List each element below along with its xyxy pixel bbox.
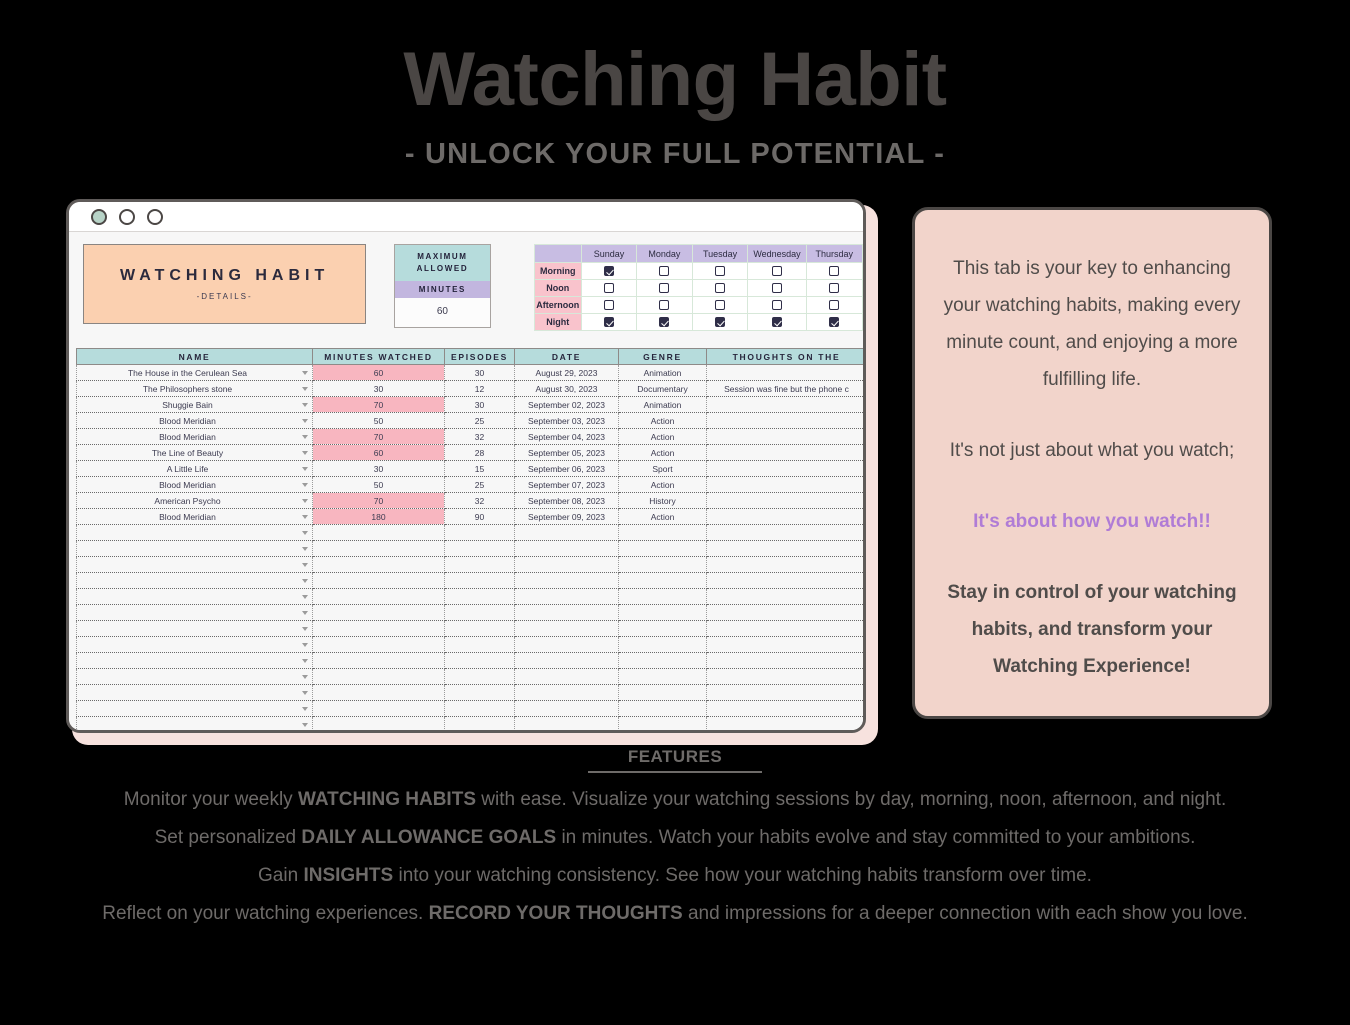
maximum-allowed-unit: MINUTES [395, 281, 489, 298]
cell-date[interactable]: September 05, 2023 [515, 445, 619, 461]
table-row[interactable] [77, 605, 864, 621]
table-row[interactable] [77, 717, 864, 733]
cell-genre[interactable] [619, 653, 707, 669]
chevron-down-icon[interactable] [302, 435, 308, 439]
cell-minutes[interactable] [313, 733, 445, 734]
table-col-0: NAME [77, 349, 313, 365]
checkbox-icon[interactable] [829, 266, 839, 276]
cell-date[interactable] [515, 637, 619, 653]
cell-date[interactable]: August 30, 2023 [515, 381, 619, 397]
checkbox-icon[interactable] [715, 266, 725, 276]
week-grid-cell[interactable] [692, 297, 748, 314]
cell-thoughts[interactable]: Session was fine but the phone c [707, 381, 864, 397]
table-row[interactable]: The Line of Beauty6028September 05, 2023… [77, 445, 864, 461]
feature-line-2: Gain INSIGHTS into your watching consist… [0, 865, 1350, 887]
chevron-down-icon[interactable] [302, 595, 308, 599]
cell-genre[interactable]: History [619, 493, 707, 509]
table-row[interactable]: Blood Meridian5025September 03, 2023Acti… [77, 413, 864, 429]
cell-date[interactable] [515, 621, 619, 637]
cell-minutes[interactable] [313, 557, 445, 573]
table-row[interactable] [77, 733, 864, 734]
chevron-down-icon[interactable] [302, 403, 308, 407]
chevron-down-icon[interactable] [302, 723, 308, 727]
cell-minutes[interactable]: 70 [313, 397, 445, 413]
cell-name[interactable] [77, 525, 313, 541]
week-grid-cell[interactable] [581, 297, 636, 314]
cell-date[interactable]: September 04, 2023 [515, 429, 619, 445]
cell-minutes[interactable] [313, 701, 445, 717]
table-row[interactable] [77, 637, 864, 653]
cell-name[interactable]: Blood Meridian [77, 477, 313, 493]
cell-genre[interactable]: Action [619, 413, 707, 429]
cell-episodes[interactable] [445, 685, 515, 701]
page-title: Watching Habit [0, 42, 1350, 118]
cell-minutes[interactable]: 30 [313, 381, 445, 397]
cell-date[interactable] [515, 525, 619, 541]
checkbox-icon[interactable] [772, 283, 782, 293]
banner-title: WATCHING HABIT [120, 267, 329, 285]
window-close-dot-icon[interactable] [91, 209, 107, 225]
cell-minutes[interactable] [313, 605, 445, 621]
features-section: FEATURES Monitor your weekly WATCHING HA… [0, 747, 1350, 925]
cell-date[interactable]: September 02, 2023 [515, 397, 619, 413]
cell-genre[interactable] [619, 717, 707, 733]
week-grid-corner [534, 245, 581, 263]
cell-name[interactable]: The Philosophers stone [77, 381, 313, 397]
cell-thoughts[interactable] [707, 493, 864, 509]
feature-keyword: INSIGHTS [303, 865, 393, 886]
week-grid-cell[interactable] [806, 263, 862, 280]
table-row[interactable]: A Little Life3015September 06, 2023Sport [77, 461, 864, 477]
info-accent-text: It's about how you watch!! [941, 503, 1243, 540]
cell-episodes[interactable] [445, 621, 515, 637]
cell-thoughts[interactable] [707, 701, 864, 717]
week-grid-period-1: Noon [534, 280, 581, 297]
info-paragraph-1: This tab is your key to enhancing your w… [941, 250, 1243, 398]
cell-date[interactable] [515, 653, 619, 669]
cell-episodes[interactable] [445, 541, 515, 557]
week-grid-day-0: Sunday [581, 245, 636, 263]
cell-episodes[interactable]: 30 [445, 365, 515, 381]
cell-episodes[interactable]: 30 [445, 397, 515, 413]
checkbox-icon[interactable] [604, 317, 614, 327]
cell-genre[interactable]: Action [619, 445, 707, 461]
cell-thoughts[interactable] [707, 685, 864, 701]
cell-date[interactable] [515, 717, 619, 733]
cell-genre[interactable] [619, 557, 707, 573]
table-row[interactable] [77, 525, 864, 541]
cell-thoughts[interactable] [707, 429, 864, 445]
chevron-down-icon[interactable] [302, 675, 308, 679]
week-grid-cell[interactable] [637, 263, 692, 280]
cell-episodes[interactable] [445, 669, 515, 685]
cell-name[interactable]: Blood Meridian [77, 429, 313, 445]
info-card: This tab is your key to enhancing your w… [912, 207, 1272, 719]
cell-date[interactable] [515, 573, 619, 589]
table-col-3: DATE [515, 349, 619, 365]
chevron-down-icon[interactable] [302, 371, 308, 375]
cell-genre[interactable] [619, 605, 707, 621]
cell-episodes[interactable]: 32 [445, 429, 515, 445]
cell-thoughts[interactable] [707, 621, 864, 637]
cell-episodes[interactable]: 15 [445, 461, 515, 477]
cell-date[interactable] [515, 733, 619, 734]
cell-genre[interactable] [619, 733, 707, 734]
cell-date[interactable] [515, 557, 619, 573]
cell-thoughts[interactable] [707, 557, 864, 573]
chevron-down-icon[interactable] [302, 515, 308, 519]
table-row[interactable] [77, 589, 864, 605]
cell-minutes[interactable]: 50 [313, 477, 445, 493]
cell-episodes[interactable] [445, 637, 515, 653]
cell-name[interactable] [77, 669, 313, 685]
checkbox-icon[interactable] [659, 266, 669, 276]
chevron-down-icon[interactable] [302, 659, 308, 663]
week-grid-period-2: Afternoon [534, 297, 581, 314]
week-grid-row: Morning [534, 263, 862, 280]
table-row[interactable]: The House in the Cerulean Sea6030August … [77, 365, 864, 381]
feature-keyword: DAILY ALLOWANCE GOALS [301, 827, 556, 848]
week-grid-cell[interactable] [637, 280, 692, 297]
chevron-down-icon[interactable] [302, 467, 308, 471]
cell-genre[interactable]: Documentary [619, 381, 707, 397]
info-card-wrapper: This tab is your key to enhancing your w… [912, 207, 1272, 719]
table-row[interactable] [77, 541, 864, 557]
week-grid-day-1: Monday [637, 245, 692, 263]
chevron-down-icon[interactable] [302, 627, 308, 631]
maximum-allowed-label: MAXIMUM ALLOWED [395, 245, 489, 281]
chevron-down-icon[interactable] [302, 531, 308, 535]
chevron-down-icon[interactable] [302, 643, 308, 647]
week-grid-row: Afternoon [534, 297, 862, 314]
window-maximize-dot-icon[interactable] [147, 209, 163, 225]
table-row[interactable] [77, 685, 864, 701]
week-grid-row: Night [534, 314, 862, 331]
cell-name[interactable] [77, 637, 313, 653]
week-grid-cell[interactable] [806, 280, 862, 297]
cell-thoughts[interactable] [707, 717, 864, 733]
cell-date[interactable]: September 03, 2023 [515, 413, 619, 429]
features-heading: FEATURES [588, 747, 762, 773]
watching-log-table: NAMEMINUTES WATCHEDEPISODESDATEGENRETHOU… [76, 348, 863, 733]
chevron-down-icon[interactable] [302, 611, 308, 615]
cell-genre[interactable] [619, 701, 707, 717]
cell-thoughts[interactable] [707, 605, 864, 621]
cell-thoughts[interactable] [707, 413, 864, 429]
cell-episodes[interactable]: 28 [445, 445, 515, 461]
cell-minutes[interactable] [313, 541, 445, 557]
week-grid-cell[interactable] [692, 314, 748, 331]
cell-minutes[interactable] [313, 653, 445, 669]
cell-thoughts[interactable] [707, 397, 864, 413]
cell-name[interactable] [77, 717, 313, 733]
checkbox-icon[interactable] [829, 317, 839, 327]
cell-episodes[interactable]: 25 [445, 477, 515, 493]
cell-genre[interactable] [619, 621, 707, 637]
week-grid-cell[interactable] [692, 280, 748, 297]
cell-thoughts[interactable] [707, 589, 864, 605]
table-col-5: THOUGHTS ON THE [707, 349, 864, 365]
feature-line-3: Reflect on your watching experiences. RE… [0, 903, 1350, 925]
checkbox-icon[interactable] [829, 283, 839, 293]
cell-date[interactable] [515, 685, 619, 701]
cell-genre[interactable]: Animation [619, 365, 707, 381]
banner-subtitle: -DETAILS- [197, 292, 253, 301]
features-list: Monitor your weekly WATCHING HABITS with… [0, 789, 1350, 925]
table-col-4: GENRE [619, 349, 707, 365]
cell-thoughts[interactable] [707, 509, 864, 525]
feature-line-0: Monitor your weekly WATCHING HABITS with… [0, 789, 1350, 811]
spreadsheet-window: WATCHING HABIT -DETAILS- MAXIMUM ALLOWED… [66, 199, 866, 733]
cell-thoughts[interactable] [707, 477, 864, 493]
week-grid-cell[interactable] [637, 297, 692, 314]
info-paragraph-2: It's not just about what you watch; [941, 432, 1243, 469]
hero-header: Watching Habit - UNLOCK YOUR FULL POTENT… [0, 0, 1350, 171]
chevron-down-icon[interactable] [302, 419, 308, 423]
cell-minutes[interactable]: 50 [313, 413, 445, 429]
cell-minutes[interactable] [313, 685, 445, 701]
cell-name[interactable] [77, 685, 313, 701]
week-grid-row: Noon [534, 280, 862, 297]
checkbox-icon[interactable] [715, 300, 725, 310]
table-row[interactable] [77, 669, 864, 685]
cell-episodes[interactable] [445, 605, 515, 621]
chevron-down-icon[interactable] [302, 547, 308, 551]
cell-minutes[interactable] [313, 621, 445, 637]
week-grid-cell[interactable] [581, 314, 636, 331]
spreadsheet-window-wrapper: WATCHING HABIT -DETAILS- MAXIMUM ALLOWED… [66, 199, 872, 733]
week-grid-cell[interactable] [748, 263, 806, 280]
cell-date[interactable] [515, 541, 619, 557]
cell-name[interactable] [77, 653, 313, 669]
chevron-down-icon[interactable] [302, 483, 308, 487]
cell-name[interactable] [77, 541, 313, 557]
cell-date[interactable] [515, 589, 619, 605]
cell-thoughts[interactable] [707, 365, 864, 381]
page-subtitle: - UNLOCK YOUR FULL POTENTIAL - [0, 138, 1350, 171]
checkbox-icon[interactable] [715, 283, 725, 293]
spreadsheet-top-section: WATCHING HABIT -DETAILS- MAXIMUM ALLOWED… [69, 232, 863, 344]
table-row[interactable] [77, 653, 864, 669]
cell-minutes[interactable]: 60 [313, 445, 445, 461]
cell-genre[interactable]: Action [619, 429, 707, 445]
chevron-down-icon[interactable] [302, 499, 308, 503]
week-grid-cell[interactable] [806, 297, 862, 314]
cell-genre[interactable]: Animation [619, 397, 707, 413]
cell-date[interactable] [515, 605, 619, 621]
week-grid-cell[interactable] [581, 280, 636, 297]
cell-genre[interactable] [619, 637, 707, 653]
table-row[interactable]: Shuggie Bain7030September 02, 2023Animat… [77, 397, 864, 413]
cell-genre[interactable] [619, 589, 707, 605]
table-row[interactable]: Blood Meridian18090September 09, 2023Act… [77, 509, 864, 525]
maximum-allowed-value[interactable]: 60 [395, 298, 489, 327]
checkbox-icon[interactable] [772, 300, 782, 310]
spreadsheet-body: WATCHING HABIT -DETAILS- MAXIMUM ALLOWED… [69, 232, 863, 733]
table-row[interactable]: Blood Meridian5025September 07, 2023Acti… [77, 477, 864, 493]
cell-episodes[interactable]: 90 [445, 509, 515, 525]
cell-episodes[interactable] [445, 589, 515, 605]
cell-name[interactable] [77, 621, 313, 637]
table-body: The House in the Cerulean Sea6030August … [77, 365, 864, 734]
card-spacer [941, 398, 1243, 432]
cell-thoughts[interactable] [707, 637, 864, 653]
cell-episodes[interactable] [445, 557, 515, 573]
cell-date[interactable] [515, 669, 619, 685]
table-row[interactable] [77, 621, 864, 637]
cell-name[interactable]: American Psycho [77, 493, 313, 509]
cell-date[interactable]: August 29, 2023 [515, 365, 619, 381]
main-content-row: WATCHING HABIT -DETAILS- MAXIMUM ALLOWED… [0, 199, 1350, 733]
cell-episodes[interactable] [445, 573, 515, 589]
week-grid-day-3: Wednesday [748, 245, 806, 263]
cell-genre[interactable] [619, 525, 707, 541]
checkbox-icon[interactable] [829, 300, 839, 310]
week-grid-day-4: Thursday [806, 245, 862, 263]
table-row[interactable]: Blood Meridian7032September 04, 2023Acti… [77, 429, 864, 445]
feature-keyword: RECORD YOUR THOUGHTS [429, 903, 683, 924]
table-row[interactable] [77, 557, 864, 573]
cell-episodes[interactable]: 12 [445, 381, 515, 397]
table-row[interactable] [77, 573, 864, 589]
cell-thoughts[interactable] [707, 525, 864, 541]
cell-date[interactable]: September 06, 2023 [515, 461, 619, 477]
weekly-schedule-grid: SundayMondayTuesdayWednesdayThursdayMorn… [534, 244, 863, 331]
cell-name[interactable]: A Little Life [77, 461, 313, 477]
cell-date[interactable]: September 08, 2023 [515, 493, 619, 509]
cell-thoughts[interactable] [707, 653, 864, 669]
table-row[interactable] [77, 701, 864, 717]
table-header-row: NAMEMINUTES WATCHEDEPISODESDATEGENRETHOU… [77, 349, 864, 365]
cell-genre[interactable] [619, 669, 707, 685]
table-row[interactable]: American Psycho7032September 08, 2023His… [77, 493, 864, 509]
cell-episodes[interactable] [445, 653, 515, 669]
cell-genre[interactable] [619, 573, 707, 589]
cell-name[interactable]: The House in the Cerulean Sea [77, 365, 313, 381]
cell-name[interactable]: Shuggie Bain [77, 397, 313, 413]
cell-minutes[interactable]: 30 [313, 461, 445, 477]
cell-minutes[interactable] [313, 589, 445, 605]
watching-habit-banner: WATCHING HABIT -DETAILS- [83, 244, 366, 324]
week-grid-day-2: Tuesday [692, 245, 748, 263]
checkbox-icon[interactable] [772, 317, 782, 327]
table-col-1: MINUTES WATCHED [313, 349, 445, 365]
cell-name[interactable]: Blood Meridian [77, 413, 313, 429]
cell-minutes[interactable]: 70 [313, 493, 445, 509]
cell-name[interactable] [77, 573, 313, 589]
cell-name[interactable] [77, 589, 313, 605]
week-grid-cell[interactable] [806, 314, 862, 331]
window-minimize-dot-icon[interactable] [119, 209, 135, 225]
cell-thoughts[interactable] [707, 445, 864, 461]
chevron-down-icon[interactable] [302, 579, 308, 583]
week-grid-cell[interactable] [581, 263, 636, 280]
window-titlebar [69, 202, 863, 232]
card-spacer [941, 469, 1243, 503]
cell-episodes[interactable] [445, 717, 515, 733]
checkbox-icon[interactable] [604, 300, 614, 310]
cell-minutes[interactable]: 60 [313, 365, 445, 381]
cell-episodes[interactable] [445, 525, 515, 541]
cell-thoughts[interactable] [707, 541, 864, 557]
week-grid-cell[interactable] [748, 314, 806, 331]
cell-name[interactable] [77, 557, 313, 573]
chevron-down-icon[interactable] [302, 563, 308, 567]
cell-minutes[interactable] [313, 525, 445, 541]
chevron-down-icon[interactable] [302, 387, 308, 391]
week-grid-cell[interactable] [748, 280, 806, 297]
cell-name[interactable] [77, 605, 313, 621]
cell-name[interactable] [77, 733, 313, 734]
week-grid-cell[interactable] [637, 314, 692, 331]
checkbox-icon[interactable] [772, 266, 782, 276]
card-spacer [941, 540, 1243, 574]
week-grid-cell[interactable] [748, 297, 806, 314]
cell-genre[interactable] [619, 685, 707, 701]
cell-minutes[interactable] [313, 669, 445, 685]
week-grid-period-0: Morning [534, 263, 581, 280]
cell-episodes[interactable] [445, 733, 515, 734]
info-paragraph-3: Stay in control of your watching habits,… [941, 574, 1243, 685]
cell-genre[interactable]: Action [619, 509, 707, 525]
cell-thoughts[interactable] [707, 461, 864, 477]
cell-episodes[interactable]: 25 [445, 413, 515, 429]
maximum-allowed-box: MAXIMUM ALLOWED MINUTES 60 [394, 244, 490, 328]
cell-minutes[interactable] [313, 573, 445, 589]
feature-keyword: WATCHING HABITS [298, 789, 476, 810]
checkbox-icon[interactable] [659, 283, 669, 293]
cell-genre[interactable] [619, 541, 707, 557]
cell-minutes[interactable]: 180 [313, 509, 445, 525]
checkbox-icon[interactable] [604, 283, 614, 293]
cell-genre[interactable]: Action [619, 477, 707, 493]
cell-date[interactable]: September 07, 2023 [515, 477, 619, 493]
checkbox-icon[interactable] [715, 317, 725, 327]
chevron-down-icon[interactable] [302, 707, 308, 711]
checkbox-icon[interactable] [659, 300, 669, 310]
checkbox-icon[interactable] [659, 317, 669, 327]
checkbox-icon[interactable] [604, 266, 614, 276]
cell-genre[interactable]: Sport [619, 461, 707, 477]
data-table-wrapper: NAMEMINUTES WATCHEDEPISODESDATEGENRETHOU… [69, 344, 863, 733]
cell-thoughts[interactable] [707, 733, 864, 734]
cell-thoughts[interactable] [707, 669, 864, 685]
chevron-down-icon[interactable] [302, 691, 308, 695]
cell-thoughts[interactable] [707, 573, 864, 589]
feature-line-1: Set personalized DAILY ALLOWANCE GOALS i… [0, 827, 1350, 849]
cell-episodes[interactable] [445, 701, 515, 717]
cell-date[interactable] [515, 701, 619, 717]
week-grid-cell[interactable] [692, 263, 748, 280]
cell-minutes[interactable] [313, 717, 445, 733]
cell-name[interactable]: The Line of Beauty [77, 445, 313, 461]
cell-minutes[interactable]: 70 [313, 429, 445, 445]
cell-name[interactable]: Blood Meridian [77, 509, 313, 525]
week-grid-period-3: Night [534, 314, 581, 331]
table-row[interactable]: The Philosophers stone3012August 30, 202… [77, 381, 864, 397]
table-col-2: EPISODES [445, 349, 515, 365]
cell-minutes[interactable] [313, 637, 445, 653]
cell-date[interactable]: September 09, 2023 [515, 509, 619, 525]
chevron-down-icon[interactable] [302, 451, 308, 455]
cell-name[interactable] [77, 701, 313, 717]
cell-episodes[interactable]: 32 [445, 493, 515, 509]
